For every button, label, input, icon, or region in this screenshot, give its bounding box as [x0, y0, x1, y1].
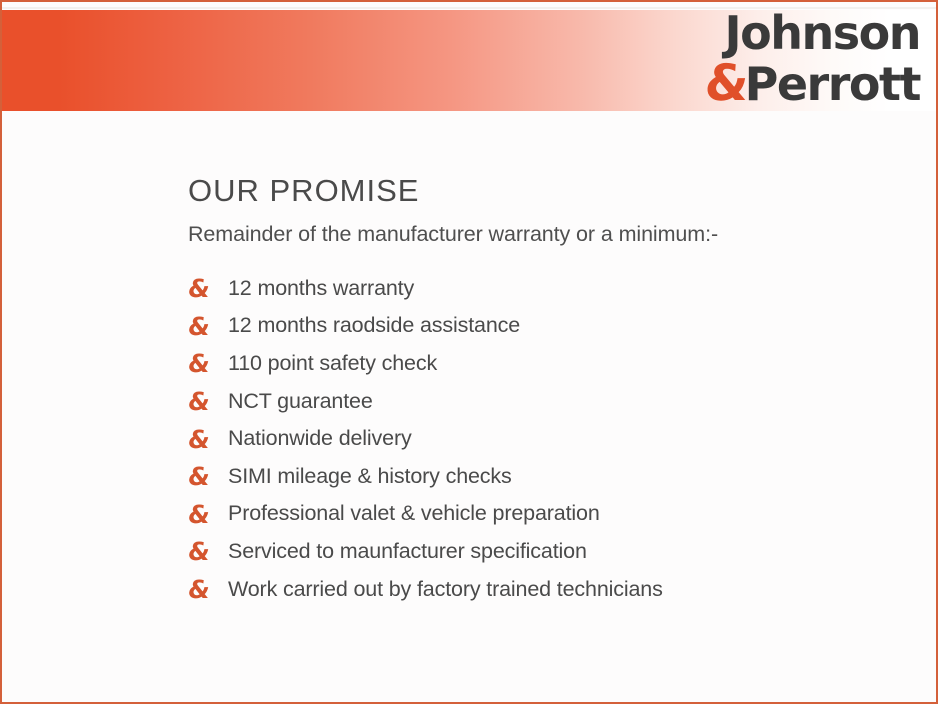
list-item-label: Serviced to maunfacturer specification [228, 539, 587, 565]
list-item: & 12 months raodside assistance [188, 307, 916, 345]
list-item: & 110 point safety check [188, 345, 916, 383]
promise-subtitle: Remainder of the manufacturer warranty o… [188, 222, 916, 248]
brand-header: Johnson &Perrott [2, 2, 936, 114]
list-item-label: Work carried out by factory trained tech… [228, 577, 663, 603]
johnson-perrott-logo: Johnson &Perrott [688, 8, 920, 112]
list-item: & Professional valet & vehicle preparati… [188, 495, 916, 533]
list-item-label: 12 months warranty [228, 276, 414, 302]
list-item-label: 12 months raodside assistance [228, 313, 520, 339]
ampersand-bullet-icon: & [187, 577, 230, 602]
list-item: & NCT guarantee [188, 383, 916, 421]
page-title: OUR PROMISE [188, 174, 916, 208]
list-item-label: Nationwide delivery [228, 426, 412, 452]
ampersand-bullet-icon: & [187, 351, 230, 376]
ampersand-bullet-icon: & [187, 314, 230, 339]
logo-line-perrott: &Perrott [705, 58, 920, 108]
promise-slide: Johnson &Perrott OUR PROMISE Remainder o… [0, 0, 938, 704]
logo-line-johnson: Johnson [725, 10, 920, 56]
list-item-label: 110 point safety check [228, 351, 437, 377]
promise-list: & 12 months warranty & 12 months raodsid… [188, 270, 916, 608]
ampersand-icon: & [703, 58, 749, 108]
ampersand-bullet-icon: & [187, 539, 230, 564]
list-item: & Work carried out by factory trained te… [188, 571, 916, 609]
ampersand-bullet-icon: & [187, 427, 230, 452]
list-item-label: Professional valet & vehicle preparation [228, 501, 600, 527]
ampersand-bullet-icon: & [187, 389, 230, 414]
list-item: & Serviced to maunfacturer specification [188, 533, 916, 571]
ampersand-bullet-icon: & [187, 502, 230, 527]
list-item: & 12 months warranty [188, 270, 916, 308]
logo-perrott-text: Perrott [745, 61, 920, 107]
promise-content: OUR PROMISE Remainder of the manufacture… [188, 174, 916, 608]
ampersand-bullet-icon: & [187, 276, 230, 301]
list-item: & SIMI mileage & history checks [188, 458, 916, 496]
list-item: & Nationwide delivery [188, 420, 916, 458]
list-item-label: SIMI mileage & history checks [228, 464, 512, 490]
ampersand-bullet-icon: & [187, 464, 230, 489]
list-item-label: NCT guarantee [228, 389, 373, 415]
